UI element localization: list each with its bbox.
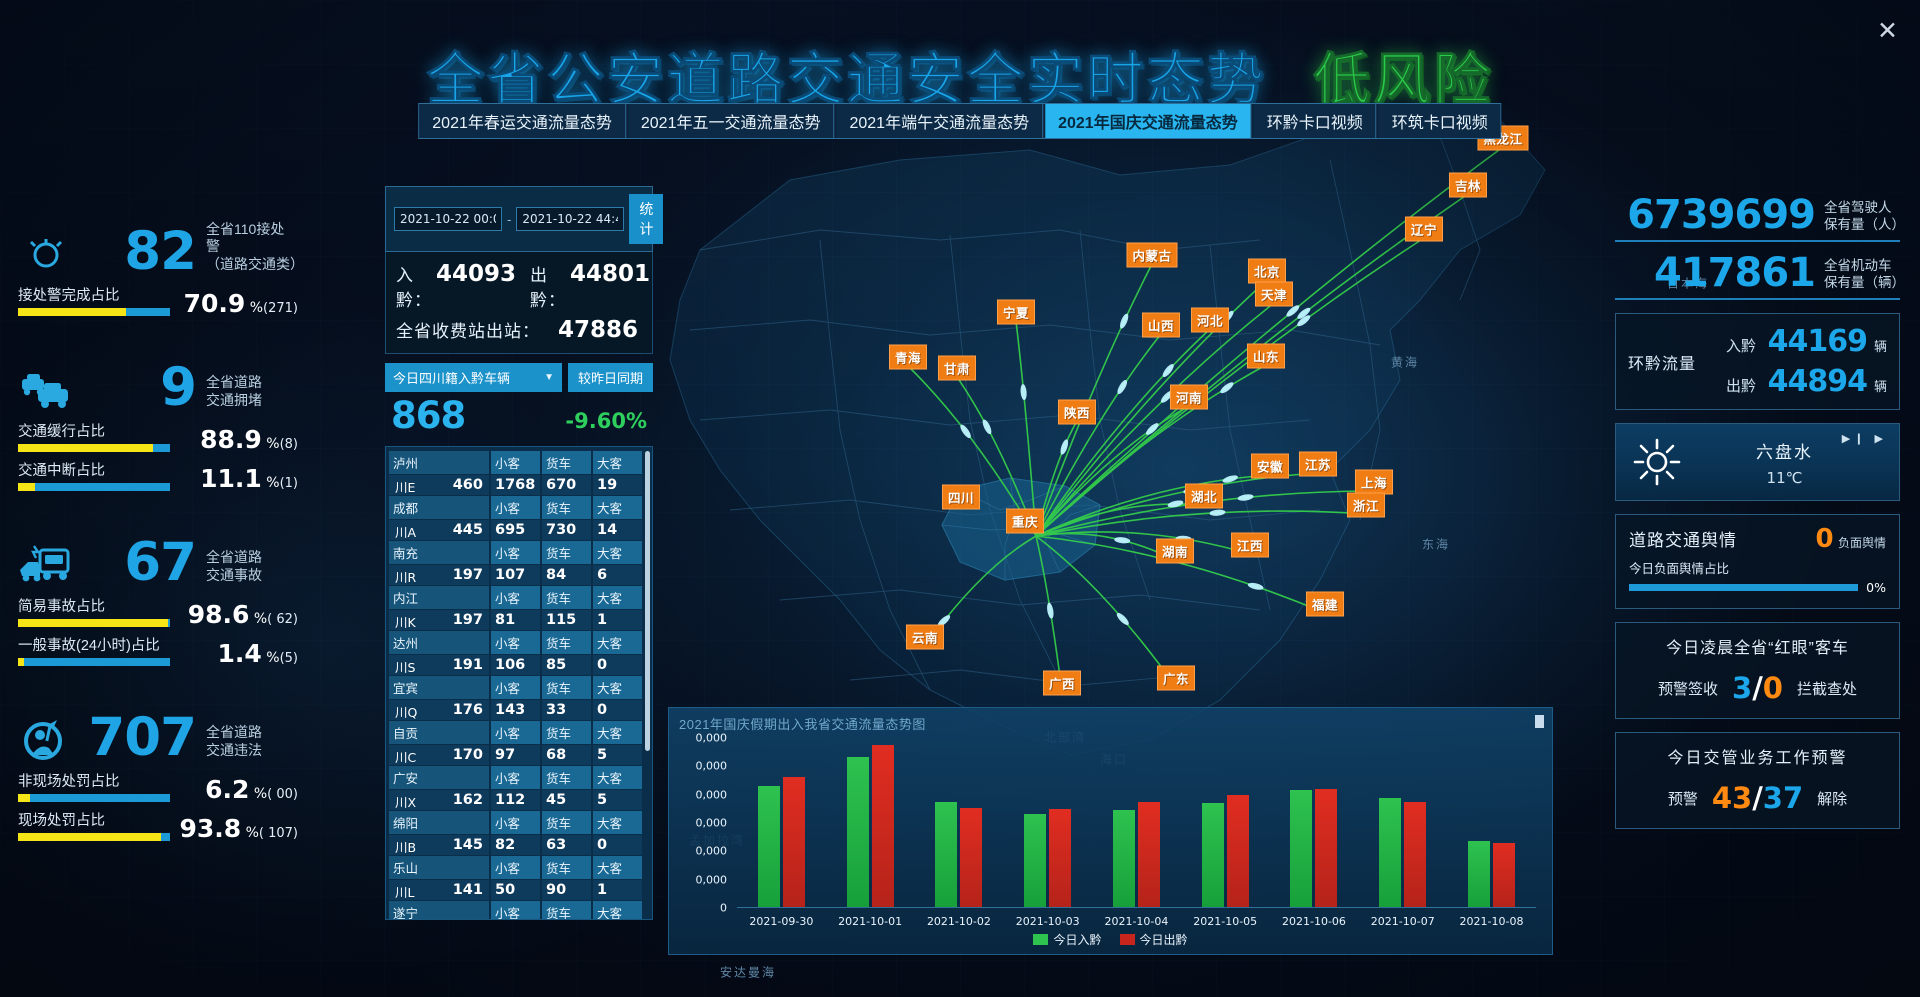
legend-item-1[interactable]: 今日出黔: [1120, 931, 1188, 948]
ring-flow-box: 环黔流量 入黔 44169 辆 出黔 44894 辆: [1615, 313, 1900, 410]
work-warning-title: 今日交管业务工作预警: [1629, 744, 1886, 768]
bar-caption-1-1: 交通中断占比: [18, 459, 192, 480]
table-col-xiaoke: 小客: [491, 451, 542, 474]
table-scrollbar[interactable]: [645, 451, 650, 751]
metric-value-3: 707: [88, 714, 196, 763]
bar-value-2-0: 98.6 %( 62): [180, 602, 298, 627]
metric-bar-row-1-0: 交通缓行占比88.9 %(8): [18, 420, 298, 452]
table-col-dake: 大客: [593, 586, 644, 609]
table-header-row: 成都小客货车大客: [389, 496, 644, 519]
bar-group-8: [1468, 738, 1515, 907]
metric-header-1: 9全省道路交通拥堵: [18, 351, 298, 413]
table-col-xiaoke: 小客: [491, 811, 542, 834]
table-city: 成都: [389, 496, 491, 519]
province-label-重庆[interactable]: 重庆: [1006, 509, 1044, 534]
bar-out-5: [1227, 795, 1249, 907]
metric-value-1: 9: [160, 364, 196, 413]
flow-table-wrapper[interactable]: 泸州小客货车大客川E460176867019成都小客货车大客川A44569573…: [385, 446, 653, 920]
table-city: 乐山: [389, 856, 491, 879]
table-val-huoche: 84: [542, 565, 593, 585]
flow-table: 泸州小客货车大客川E460176867019成都小客货车大客川A44569573…: [389, 450, 644, 920]
drivers-stat: 6739699 全省驾驶人 保有量（人）: [1615, 196, 1900, 234]
table-val-huoche: 85: [542, 655, 593, 675]
table-col-xiaoke: 小客: [491, 496, 542, 519]
metric-header-3: 707全省道路交通违法: [18, 701, 298, 763]
red-eye-intercepted: 0: [1763, 671, 1783, 705]
bar-group-2: [935, 738, 982, 907]
province-label-甘肃[interactable]: 甘肃: [938, 356, 976, 381]
chart-plot-area: 0,0000,0000,0000,0000,0000,0000: [681, 738, 1540, 908]
alarm-icon: [18, 229, 74, 277]
bar-in-5: [1202, 803, 1224, 907]
bar-out-0: [783, 777, 805, 907]
ring-flow-in: 入黔 44169 辆: [1702, 324, 1887, 359]
province-label-云南[interactable]: 云南: [906, 625, 944, 650]
table-city: 遂宁: [389, 901, 491, 920]
table-val-huoche: 670: [542, 475, 593, 495]
metric-bar-row-2-1: 一般事故(24小时)占比1.4 %(5): [18, 634, 298, 666]
table-plate-total: 川K197: [389, 610, 491, 630]
table-col-huoche: 货车: [542, 451, 593, 474]
bar-in-0: [758, 786, 780, 907]
province-label-湖南[interactable]: 湖南: [1156, 539, 1194, 564]
tab-0[interactable]: 2021年春运交通流量态势: [419, 104, 626, 138]
table-plate: 川A: [395, 522, 416, 541]
province-label-江苏[interactable]: 江苏: [1299, 452, 1337, 477]
province-label-宁夏[interactable]: 宁夏: [997, 300, 1035, 325]
table-header-row: 泸州小客货车大客: [389, 451, 644, 474]
table-val-dake: 19: [593, 475, 644, 495]
metric-block-0: 82全省110接处警（道路交通类）接处警完成占比70.9 %(271): [18, 215, 298, 316]
red-eye-title: 今日凌晨全省“红眼”客车: [1629, 634, 1886, 658]
table-col-huoche: 货车: [542, 856, 593, 879]
x-label-7: 2021-10-07: [1371, 915, 1435, 928]
sun-icon: [1630, 435, 1684, 489]
bar-in-2: [935, 802, 957, 907]
bar-fill-3-0: [18, 794, 30, 802]
table-col-dake: 大客: [593, 811, 644, 834]
metric-label-2: 全省道路交通事故: [206, 549, 298, 588]
y-tick-4: 0,000: [696, 845, 728, 858]
table-plate: 川R: [395, 567, 416, 586]
province-label-山西[interactable]: 山西: [1142, 313, 1180, 338]
table-col-xiaoke: 小客: [491, 631, 542, 654]
vehicle-filter-select[interactable]: 今日四川籍入黔车辆 ▼: [385, 363, 562, 392]
opinion-caption: 今日负面舆情占比: [1629, 558, 1886, 577]
bar-out-2: [960, 808, 982, 907]
table-val-xiaoke: 106: [491, 655, 542, 675]
bar-out-8: [1493, 843, 1515, 907]
table-col-dake: 大客: [593, 631, 644, 654]
table-city: 南充: [389, 541, 491, 564]
table-col-dake: 大客: [593, 901, 644, 920]
table-row: 川X162112455: [389, 790, 644, 810]
y-tick-0: 0,000: [696, 732, 728, 745]
table-val-huoche: 68: [542, 745, 593, 765]
table-plate-total: 川Q176: [389, 700, 491, 720]
out-label: 出黔：: [530, 261, 566, 311]
kpi-value: 868: [391, 394, 465, 437]
legend-swatch-1: [1120, 934, 1135, 945]
table-col-huoche: 货车: [542, 541, 593, 564]
ring-flow-out-label: 出黔: [1726, 375, 1756, 396]
bar-track-3-0: [18, 794, 170, 802]
vehicles-label: 全省机动车 保有量（辆）: [1824, 258, 1900, 292]
legend-label-1: 今日出黔: [1140, 931, 1188, 948]
province-label-辽宁[interactable]: 辽宁: [1405, 217, 1443, 242]
right-stats-panel: 6739699 全省驾驶人 保有量（人） 417861 全省机动车 保有量（辆）…: [1615, 196, 1900, 829]
table-col-dake: 大客: [593, 541, 644, 564]
date-end-input[interactable]: [516, 207, 624, 231]
metric-value-0: 82: [124, 228, 196, 277]
table-val-xiaoke: 1768: [491, 475, 542, 495]
red-eye-bus-box: 今日凌晨全省“红眼”客车 预警签收 3/0 拦截查处: [1615, 622, 1900, 719]
metric-label-3: 全省道路交通违法: [206, 724, 298, 763]
table-plate: 川B: [395, 837, 416, 856]
table-header-row: 绵阳小客货车大客: [389, 811, 644, 834]
province-label-福建[interactable]: 福建: [1306, 592, 1344, 617]
table-col-huoche: 货车: [542, 586, 593, 609]
metric-block-2: 67全省道路交通事故简易事故占比98.6 %( 62)一般事故(24小时)占比1…: [18, 526, 298, 666]
table-val-dake: 5: [593, 790, 644, 810]
table-plate: 川L: [395, 882, 414, 901]
table-city: 达州: [389, 631, 491, 654]
table-row: 川Q176143330: [389, 700, 644, 720]
province-label-江西[interactable]: 江西: [1231, 533, 1269, 558]
ring-flow-out-unit: 辆: [1874, 376, 1887, 395]
bar-track-2-0: [18, 619, 170, 627]
minimize-icon[interactable]: [1535, 715, 1544, 728]
table-val-huoche: 33: [542, 700, 593, 720]
table-col-huoche: 货车: [542, 766, 593, 789]
bar-fill-2-0: [18, 619, 168, 627]
province-label-上海[interactable]: 上海: [1355, 470, 1393, 495]
metric-label-0: 全省110接处警（道路交通类）: [206, 221, 298, 278]
bar-out-3: [1049, 809, 1071, 907]
opinion-title: 道路交通舆情: [1629, 526, 1737, 551]
table-col-huoche: 货车: [542, 721, 593, 744]
province-label-浙江[interactable]: 浙江: [1347, 493, 1385, 518]
bar-left-2-1: 一般事故(24小时)占比: [18, 634, 210, 666]
work-warning-cleared: 37: [1763, 781, 1803, 815]
bar-group-1: [847, 738, 894, 907]
table-header-row: 宜宾小客货车大客: [389, 676, 644, 699]
chart-bars-area: [737, 738, 1536, 908]
work-warning-separator: /: [1752, 781, 1763, 815]
traffic-flow-chart: 2021年国庆假期出入我省交通流量态势图 0,0000,0000,0000,00…: [668, 707, 1553, 955]
tab-bar: 2021年春运交通流量态势2021年五一交通流量态势2021年端午交通流量态势2…: [418, 103, 1501, 139]
metric-label-line2-1: 交通拥堵: [206, 392, 262, 408]
bar-out-6: [1315, 789, 1337, 907]
work-warning-numbers: 43/37: [1712, 781, 1803, 815]
drivers-label-line2: 保有量（人）: [1824, 217, 1905, 232]
tab-1[interactable]: 2021年五一交通流量态势: [628, 104, 835, 138]
table-row: 川S191106850: [389, 655, 644, 675]
vehicle-filter-value: 今日四川籍入黔车辆: [393, 368, 510, 387]
table-plate: 川K: [395, 612, 416, 631]
province-label-河南[interactable]: 河南: [1170, 385, 1208, 410]
bar-value-3-1: 93.8 %( 107): [171, 816, 298, 841]
bar-out-4: [1138, 802, 1160, 907]
table-plate-total: 川A445: [389, 520, 491, 540]
table-plate-total: 川L141: [389, 880, 491, 900]
compare-button[interactable]: 较昨日同期: [568, 363, 653, 392]
opinion-sub-label: 负面舆情: [1838, 536, 1886, 550]
metric-bar-row-3-0: 非现场处罚占比6.2 %( 00): [18, 770, 298, 802]
table-plate: 川X: [395, 792, 416, 811]
bar-fill-1-0: [18, 444, 153, 452]
table-plate-total: 川S191: [389, 655, 491, 675]
province-label-天津[interactable]: 天津: [1255, 282, 1293, 307]
bar-group-6: [1290, 738, 1337, 907]
bar-left-3-0: 非现场处罚占比: [18, 770, 197, 802]
metric-block-3: 707全省道路交通违法非现场处罚占比6.2 %( 00)现场处罚占比93.8 %…: [18, 701, 298, 841]
date-start-input[interactable]: [394, 207, 502, 231]
red-eye-left-label: 预警签收: [1658, 678, 1718, 699]
weather-carousel-controls[interactable]: ▶❙ ▶: [1842, 432, 1887, 445]
table-row: 川K197811151: [389, 610, 644, 630]
tab-4[interactable]: 环黔卡口视频: [1254, 104, 1377, 138]
tab-2[interactable]: 2021年端午交通流量态势: [836, 104, 1043, 138]
work-warning-box: 今日交管业务工作预警 预警 43/37 解除: [1615, 732, 1900, 829]
metric-label-line1-2: 全省道路: [206, 549, 262, 565]
ring-flow-out-value: 44894: [1763, 364, 1867, 399]
table-city: 绵阳: [389, 811, 491, 834]
table-col-xiaoke: 小客: [491, 721, 542, 744]
table-val-huoche: 115: [542, 610, 593, 630]
red-eye-signed: 3: [1732, 671, 1752, 705]
table-val-huoche: 730: [542, 520, 593, 540]
bar-caption-2-1: 一般事故(24小时)占比: [18, 634, 210, 655]
bar-caption-3-1: 现场处罚占比: [18, 809, 171, 830]
table-plate-total: 川E460: [389, 475, 491, 495]
table-row: 川E460176867019: [389, 475, 644, 495]
province-label-吉林[interactable]: 吉林: [1449, 173, 1487, 198]
province-label-河北[interactable]: 河北: [1191, 308, 1229, 333]
work-warning-issued: 43: [1712, 781, 1752, 815]
bar-in-8: [1468, 841, 1490, 907]
metric-label-line1-1: 全省道路: [206, 374, 262, 390]
table-header-row: 乐山小客货车大客: [389, 856, 644, 879]
bar-fill-2-1: [18, 658, 24, 666]
table-header-row: 达州小客货车大客: [389, 631, 644, 654]
table-val-xiaoke: 81: [491, 610, 542, 630]
y-tick-3: 0,000: [696, 817, 728, 830]
close-icon[interactable]: ✕: [1877, 18, 1898, 43]
chevron-down-icon: ▼: [544, 372, 554, 383]
province-label-湖北[interactable]: 湖北: [1185, 484, 1223, 509]
province-label-广东[interactable]: 广东: [1157, 666, 1195, 691]
metric-value-2: 67: [124, 539, 196, 588]
summary-box: 入黔： 44093 出黔： 44801 全省收费站出站： 47886: [385, 252, 653, 354]
metric-header-2: 67全省道路交通事故: [18, 526, 298, 588]
metric-label-line1-3: 全省道路: [206, 724, 262, 740]
table-val-xiaoke: 82: [491, 835, 542, 855]
chart-title: 2021年国庆假期出入我省交通流量态势图: [679, 714, 926, 733]
bar-caption-1-0: 交通缓行占比: [18, 420, 192, 441]
opinion-percent: 0%: [1866, 580, 1886, 595]
bar-value-1-1: 11.1 %(1): [192, 466, 298, 491]
y-tick-2: 0,000: [696, 788, 728, 801]
bar-group-0: [758, 738, 805, 907]
red-eye-right-label: 拦截查处: [1797, 678, 1857, 699]
table-plate-total: 川R197: [389, 565, 491, 585]
table-plate-total: 川X162: [389, 790, 491, 810]
metric-block-1: 9全省道路交通拥堵交通缓行占比88.9 %(8)交通中断占比11.1 %(1): [18, 351, 298, 491]
traffic-jam-icon: [18, 365, 74, 413]
bar-group-3: [1024, 738, 1071, 907]
table-city: 宜宾: [389, 676, 491, 699]
province-label-四川[interactable]: 四川: [942, 485, 980, 510]
y-tick-6: 0: [720, 902, 727, 915]
province-label-广西[interactable]: 广西: [1043, 671, 1081, 696]
vehicles-value: 417861: [1654, 254, 1815, 292]
tab-3[interactable]: 2021年国庆交通流量态势: [1045, 104, 1252, 138]
chart-legend: 今日入黔今日出黔: [669, 931, 1552, 948]
kpi-delta: -9.60%: [565, 409, 647, 433]
table-header-row: 遂宁小客货车大客: [389, 901, 644, 920]
x-label-6: 2021-10-06: [1282, 915, 1346, 928]
opinion-right: 0 负面舆情: [1815, 526, 1886, 552]
bar-group-7: [1379, 738, 1426, 907]
table-city: 内江: [389, 586, 491, 609]
bar-left-1-1: 交通中断占比: [18, 459, 192, 491]
drivers-label-line1: 全省驾驶人: [1824, 200, 1892, 215]
table-plate: 川Q: [395, 702, 417, 721]
work-warning-row: 预警 43/37 解除: [1629, 781, 1886, 815]
sea-label-黄海: 黄海: [1391, 354, 1419, 371]
table-col-xiaoke: 小客: [491, 766, 542, 789]
table-col-dake: 大客: [593, 676, 644, 699]
in-value: 44093: [436, 261, 516, 287]
table-val-dake: 1: [593, 610, 644, 630]
filter-row: 今日四川籍入黔车辆 ▼ 较昨日同期: [385, 363, 653, 392]
table-row: 川B14582630: [389, 835, 644, 855]
sea-label-东海: 东海: [1422, 536, 1450, 553]
bar-in-1: [847, 757, 869, 907]
out-value: 44801: [570, 261, 650, 287]
table-col-huoche: 货车: [542, 811, 593, 834]
opinion-count: 0: [1815, 524, 1833, 554]
legend-swatch-0: [1033, 934, 1048, 945]
divider-2: [1615, 298, 1900, 300]
table-plate: 川C: [395, 747, 416, 766]
table-city: 自贡: [389, 721, 491, 744]
table-col-xiaoke: 小客: [491, 541, 542, 564]
toll-label: 全省收费站出站：: [396, 317, 540, 342]
table-val-xiaoke: 50: [491, 880, 542, 900]
bar-value-1-0: 88.9 %(8): [192, 427, 298, 452]
table-col-huoche: 货车: [542, 901, 593, 920]
ring-flow-title: 环黔流量: [1628, 350, 1702, 374]
table-val-dake: 6: [593, 565, 644, 585]
bar-value-3-0: 6.2 %( 00): [197, 777, 298, 802]
table-plate-total: 川C170: [389, 745, 491, 765]
bar-track-3-1: [18, 833, 170, 841]
weather-box: 六盘水 11℃ ▶❙ ▶: [1615, 423, 1900, 501]
dashboard-root: 黑龙江吉林辽宁内蒙古北京天津宁夏山西河北山东青海甘肃陕西河南安徽江苏上海四川重庆…: [0, 0, 1920, 997]
metric-label-line1-0: 全省110接处警: [206, 221, 284, 255]
metric-label-line2-2: 交通事故: [206, 567, 262, 583]
province-label-安徽[interactable]: 安徽: [1251, 454, 1289, 479]
metric-bar-row-2-0: 简易事故占比98.6 %( 62): [18, 595, 298, 627]
table-row: 川C17097685: [389, 745, 644, 765]
x-label-4: 2021-10-04: [1104, 915, 1168, 928]
table-plate: 川E: [395, 477, 415, 496]
ring-flow-rows: 入黔 44169 辆 出黔 44894 辆: [1702, 324, 1887, 399]
table-col-xiaoke: 小客: [491, 901, 542, 920]
province-label-北京[interactable]: 北京: [1248, 259, 1286, 284]
entry-exit-line: 入黔： 44093 出黔： 44801: [396, 261, 642, 311]
x-label-3: 2021-10-03: [1016, 915, 1080, 928]
bar-caption-2-0: 简易事故占比: [18, 595, 180, 616]
table-val-dake: 0: [593, 835, 644, 855]
bar-left-1-0: 交通缓行占比: [18, 420, 192, 452]
tab-5[interactable]: 环筑卡口视频: [1379, 104, 1501, 138]
table-row: 川A44569573014: [389, 520, 644, 540]
bar-track-2-1: [18, 658, 170, 666]
table-val-huoche: 45: [542, 790, 593, 810]
bar-fill-1-1: [18, 483, 35, 491]
x-label-8: 2021-10-08: [1460, 915, 1524, 928]
table-col-huoche: 货车: [542, 496, 593, 519]
table-col-xiaoke: 小客: [491, 856, 542, 879]
chart-y-axis: 0,0000,0000,0000,0000,0000,0000: [681, 738, 733, 908]
table-col-dake: 大客: [593, 451, 644, 474]
vehicles-stat: 417861 全省机动车 保有量（辆）: [1615, 254, 1900, 292]
ring-flow-in-unit: 辆: [1874, 336, 1887, 355]
opinion-bar-row: 0%: [1629, 580, 1886, 595]
bar-value-0-0: 70.9 %(271): [176, 291, 298, 316]
bar-left-3-1: 现场处罚占比: [18, 809, 171, 841]
red-eye-row: 预警签收 3/0 拦截查处: [1629, 671, 1886, 705]
bar-fill-3-1: [18, 833, 161, 841]
table-col-xiaoke: 小客: [491, 586, 542, 609]
y-tick-1: 0,000: [696, 760, 728, 773]
drivers-label: 全省驾驶人 保有量（人）: [1824, 200, 1900, 234]
table-plate-total: 川B145: [389, 835, 491, 855]
table-val-xiaoke: 97: [491, 745, 542, 765]
bar-group-4: [1113, 738, 1160, 907]
red-eye-separator: /: [1752, 671, 1763, 705]
crash-icon: [18, 540, 74, 588]
ring-flow-in-value: 44169: [1763, 324, 1867, 359]
sea-label-安达曼海: 安达曼海: [720, 964, 776, 981]
y-tick-5: 0,000: [696, 873, 728, 886]
bar-group-5: [1202, 738, 1249, 907]
ring-flow-out: 出黔 44894 辆: [1702, 364, 1887, 399]
bar-in-4: [1113, 810, 1135, 907]
legend-item-0[interactable]: 今日入黔: [1033, 931, 1101, 948]
metric-bar-row-3-1: 现场处罚占比93.8 %( 107): [18, 809, 298, 841]
legend-label-0: 今日入黔: [1053, 931, 1101, 948]
province-label-内蒙古[interactable]: 内蒙古: [1126, 243, 1177, 268]
table-row: 川R197107846: [389, 565, 644, 585]
table-col-xiaoke: 小客: [491, 676, 542, 699]
table-val-xiaoke: 695: [491, 520, 542, 540]
metric-bar-row-1-1: 交通中断占比11.1 %(1): [18, 459, 298, 491]
x-label-1: 2021-10-01: [838, 915, 902, 928]
bar-track-1-1: [18, 483, 170, 491]
statistics-button[interactable]: 统计: [629, 194, 663, 244]
province-label-山东[interactable]: 山东: [1247, 344, 1285, 369]
bar-value-2-1: 1.4 %(5): [210, 641, 298, 666]
table-val-huoche: 90: [542, 880, 593, 900]
drivers-value: 6739699: [1627, 196, 1815, 234]
province-label-陕西[interactable]: 陕西: [1058, 400, 1096, 425]
province-label-青海[interactable]: 青海: [889, 345, 927, 370]
bar-caption-3-0: 非现场处罚占比: [18, 770, 197, 791]
